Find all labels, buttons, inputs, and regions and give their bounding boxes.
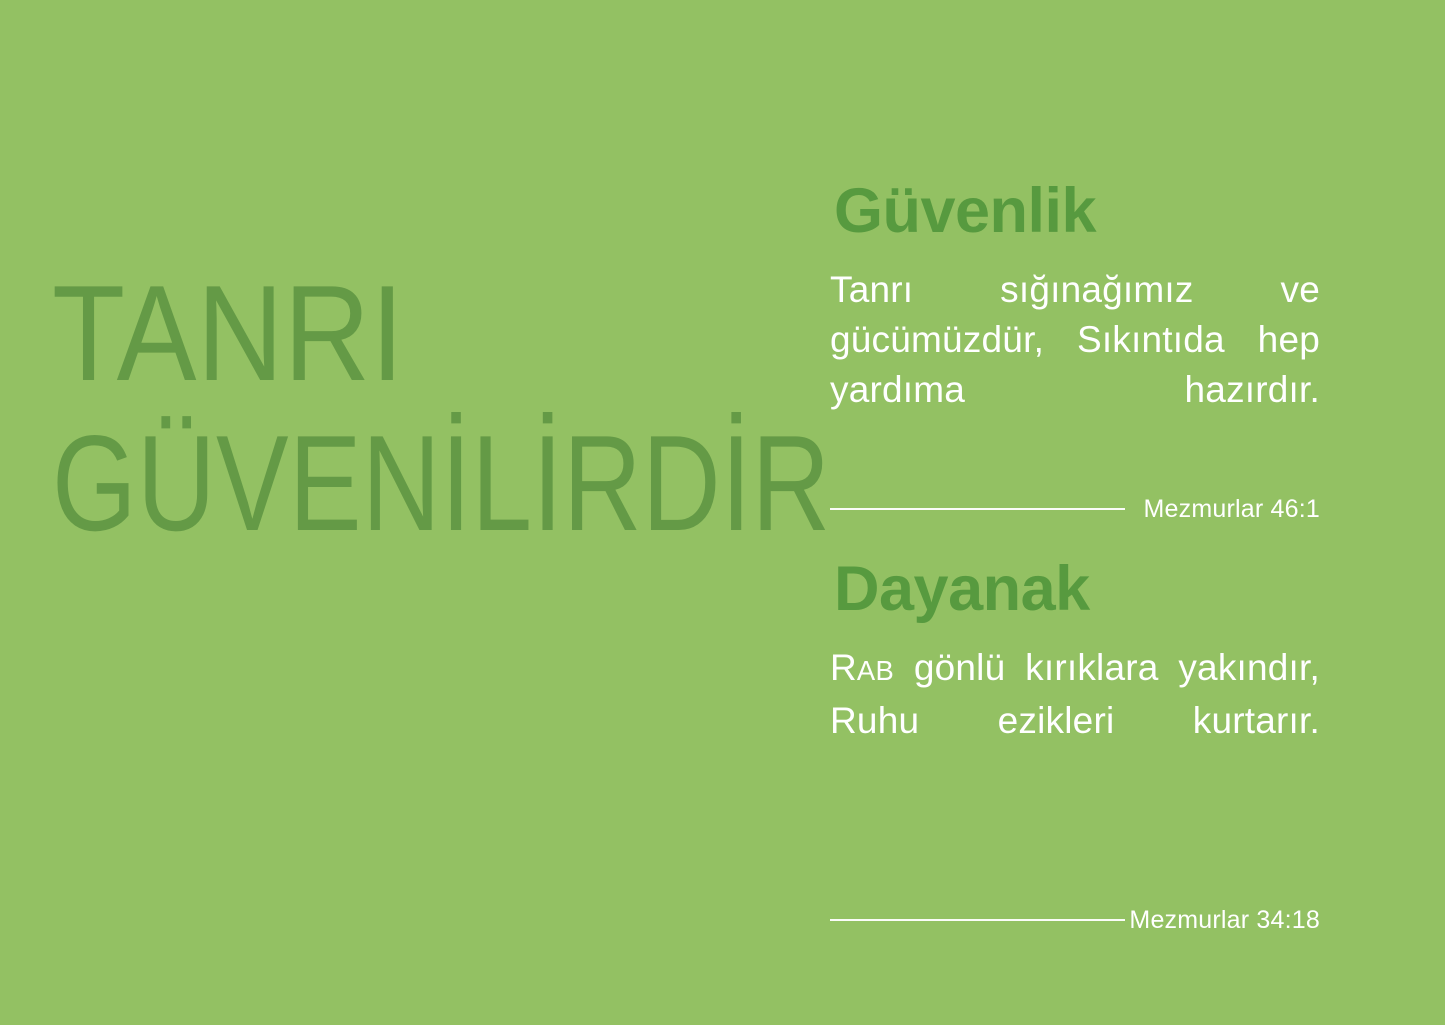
verse-reference: Mezmurlar 34:18 (1129, 906, 1320, 934)
verse-block-dayanak: Dayanak RAB gönlü kırıklara yakındır, Ru… (830, 553, 1320, 934)
verse-reference: Mezmurlar 46:1 (1144, 495, 1320, 523)
hero-title-line-1: TANRI (52, 258, 686, 408)
verse-block-guvenlik: Güvenlik Tanrı sığınağımız ve gücümüzdür… (830, 175, 1320, 523)
verse-heading: Dayanak (834, 553, 1320, 625)
verse-text: Tanrı sığınağımız ve gücümüzdür, Sıkıntı… (830, 265, 1320, 465)
verse-heading: Güvenlik (834, 175, 1320, 247)
hero-title-line-2: GÜVENİLİRDİR (52, 408, 628, 558)
divider-rule (830, 508, 1125, 510)
divider-rule (830, 919, 1125, 921)
slide-canvas: TANRI GÜVENİLİRDİR Güvenlik Tanrı sığına… (0, 0, 1445, 1025)
verse-reference-row: Mezmurlar 46:1 (830, 495, 1320, 523)
hero-title: TANRI GÜVENİLİRDİR (52, 258, 772, 558)
verse-text-body: gönlü kırıklara yakındır, Ruhu ezikleri … (830, 647, 1320, 741)
verse-text-divine-name-cap: R (830, 647, 857, 688)
verse-text-divine-name-smallcaps: AB (857, 655, 894, 686)
verse-reference-row: Mezmurlar 34:18 (830, 906, 1320, 934)
verse-text: RAB gönlü kırıklara yakındır, Ruhu ezikl… (830, 643, 1320, 796)
